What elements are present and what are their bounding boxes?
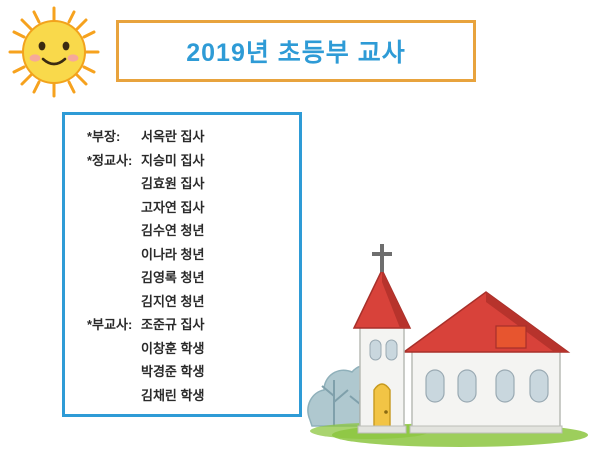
roster-role-label: *부장: — [87, 125, 141, 149]
roster-person-name: 김영록 청년 — [141, 266, 204, 290]
roster-person-name: 김채린 학생 — [141, 384, 204, 408]
roster-line: 고자연 집사 — [87, 196, 293, 220]
roster-line: *부교사:조준규 집사 — [87, 313, 293, 337]
cross-icon — [372, 244, 392, 272]
roster-person-name: 서옥란 집사 — [141, 125, 204, 149]
roster-line: 김지연 청년 — [87, 290, 293, 314]
roster-person-name: 지승미 집사 — [141, 149, 204, 173]
roster-line: 김수연 청년 — [87, 219, 293, 243]
teacher-roster-box: *부장:서옥란 집사*정교사:지승미 집사김효원 집사고자연 집사김수연 청년이… — [62, 112, 302, 417]
teacher-roster-list: *부장:서옥란 집사*정교사:지승미 집사김효원 집사고자연 집사김수연 청년이… — [87, 125, 293, 410]
roster-line: 김효원 집사 — [87, 172, 293, 196]
sun-icon — [6, 4, 102, 100]
roster-role-label: *부교사: — [87, 313, 141, 337]
church-illustration — [300, 230, 600, 450]
roster-line: *정교사:지승미 집사 — [87, 149, 293, 173]
roster-line: 박경준 학생 — [87, 360, 293, 384]
roster-person-name: 이나라 청년 — [141, 243, 204, 267]
page-title: 2019년 초등부 교사 — [119, 23, 473, 79]
roster-role-label: *정교사: — [87, 149, 141, 173]
roster-line: 김채린 학생 — [87, 384, 293, 408]
roster-person-name: 고자연 집사 — [141, 196, 204, 220]
roster-person-name: 조준규 집사 — [141, 313, 204, 337]
roster-person-name: 박경준 학생 — [141, 360, 204, 384]
roster-line: 이나라 청년 — [87, 243, 293, 267]
roster-person-name: 김지연 청년 — [141, 290, 204, 314]
slide-canvas: 2019년 초등부 교사 *부장:서옥란 집사*정교사:지승미 집사김효원 집사… — [0, 0, 600, 450]
roster-person-name: 김수연 청년 — [141, 219, 204, 243]
roster-person-name: 김효원 집사 — [141, 172, 204, 196]
slide-title-box: 2019년 초등부 교사 — [116, 20, 476, 82]
roster-line: 김영록 청년 — [87, 266, 293, 290]
roster-person-name: 이창훈 학생 — [141, 337, 204, 361]
roster-line: *부장:서옥란 집사 — [87, 125, 293, 149]
roster-line: 이창훈 학생 — [87, 337, 293, 361]
